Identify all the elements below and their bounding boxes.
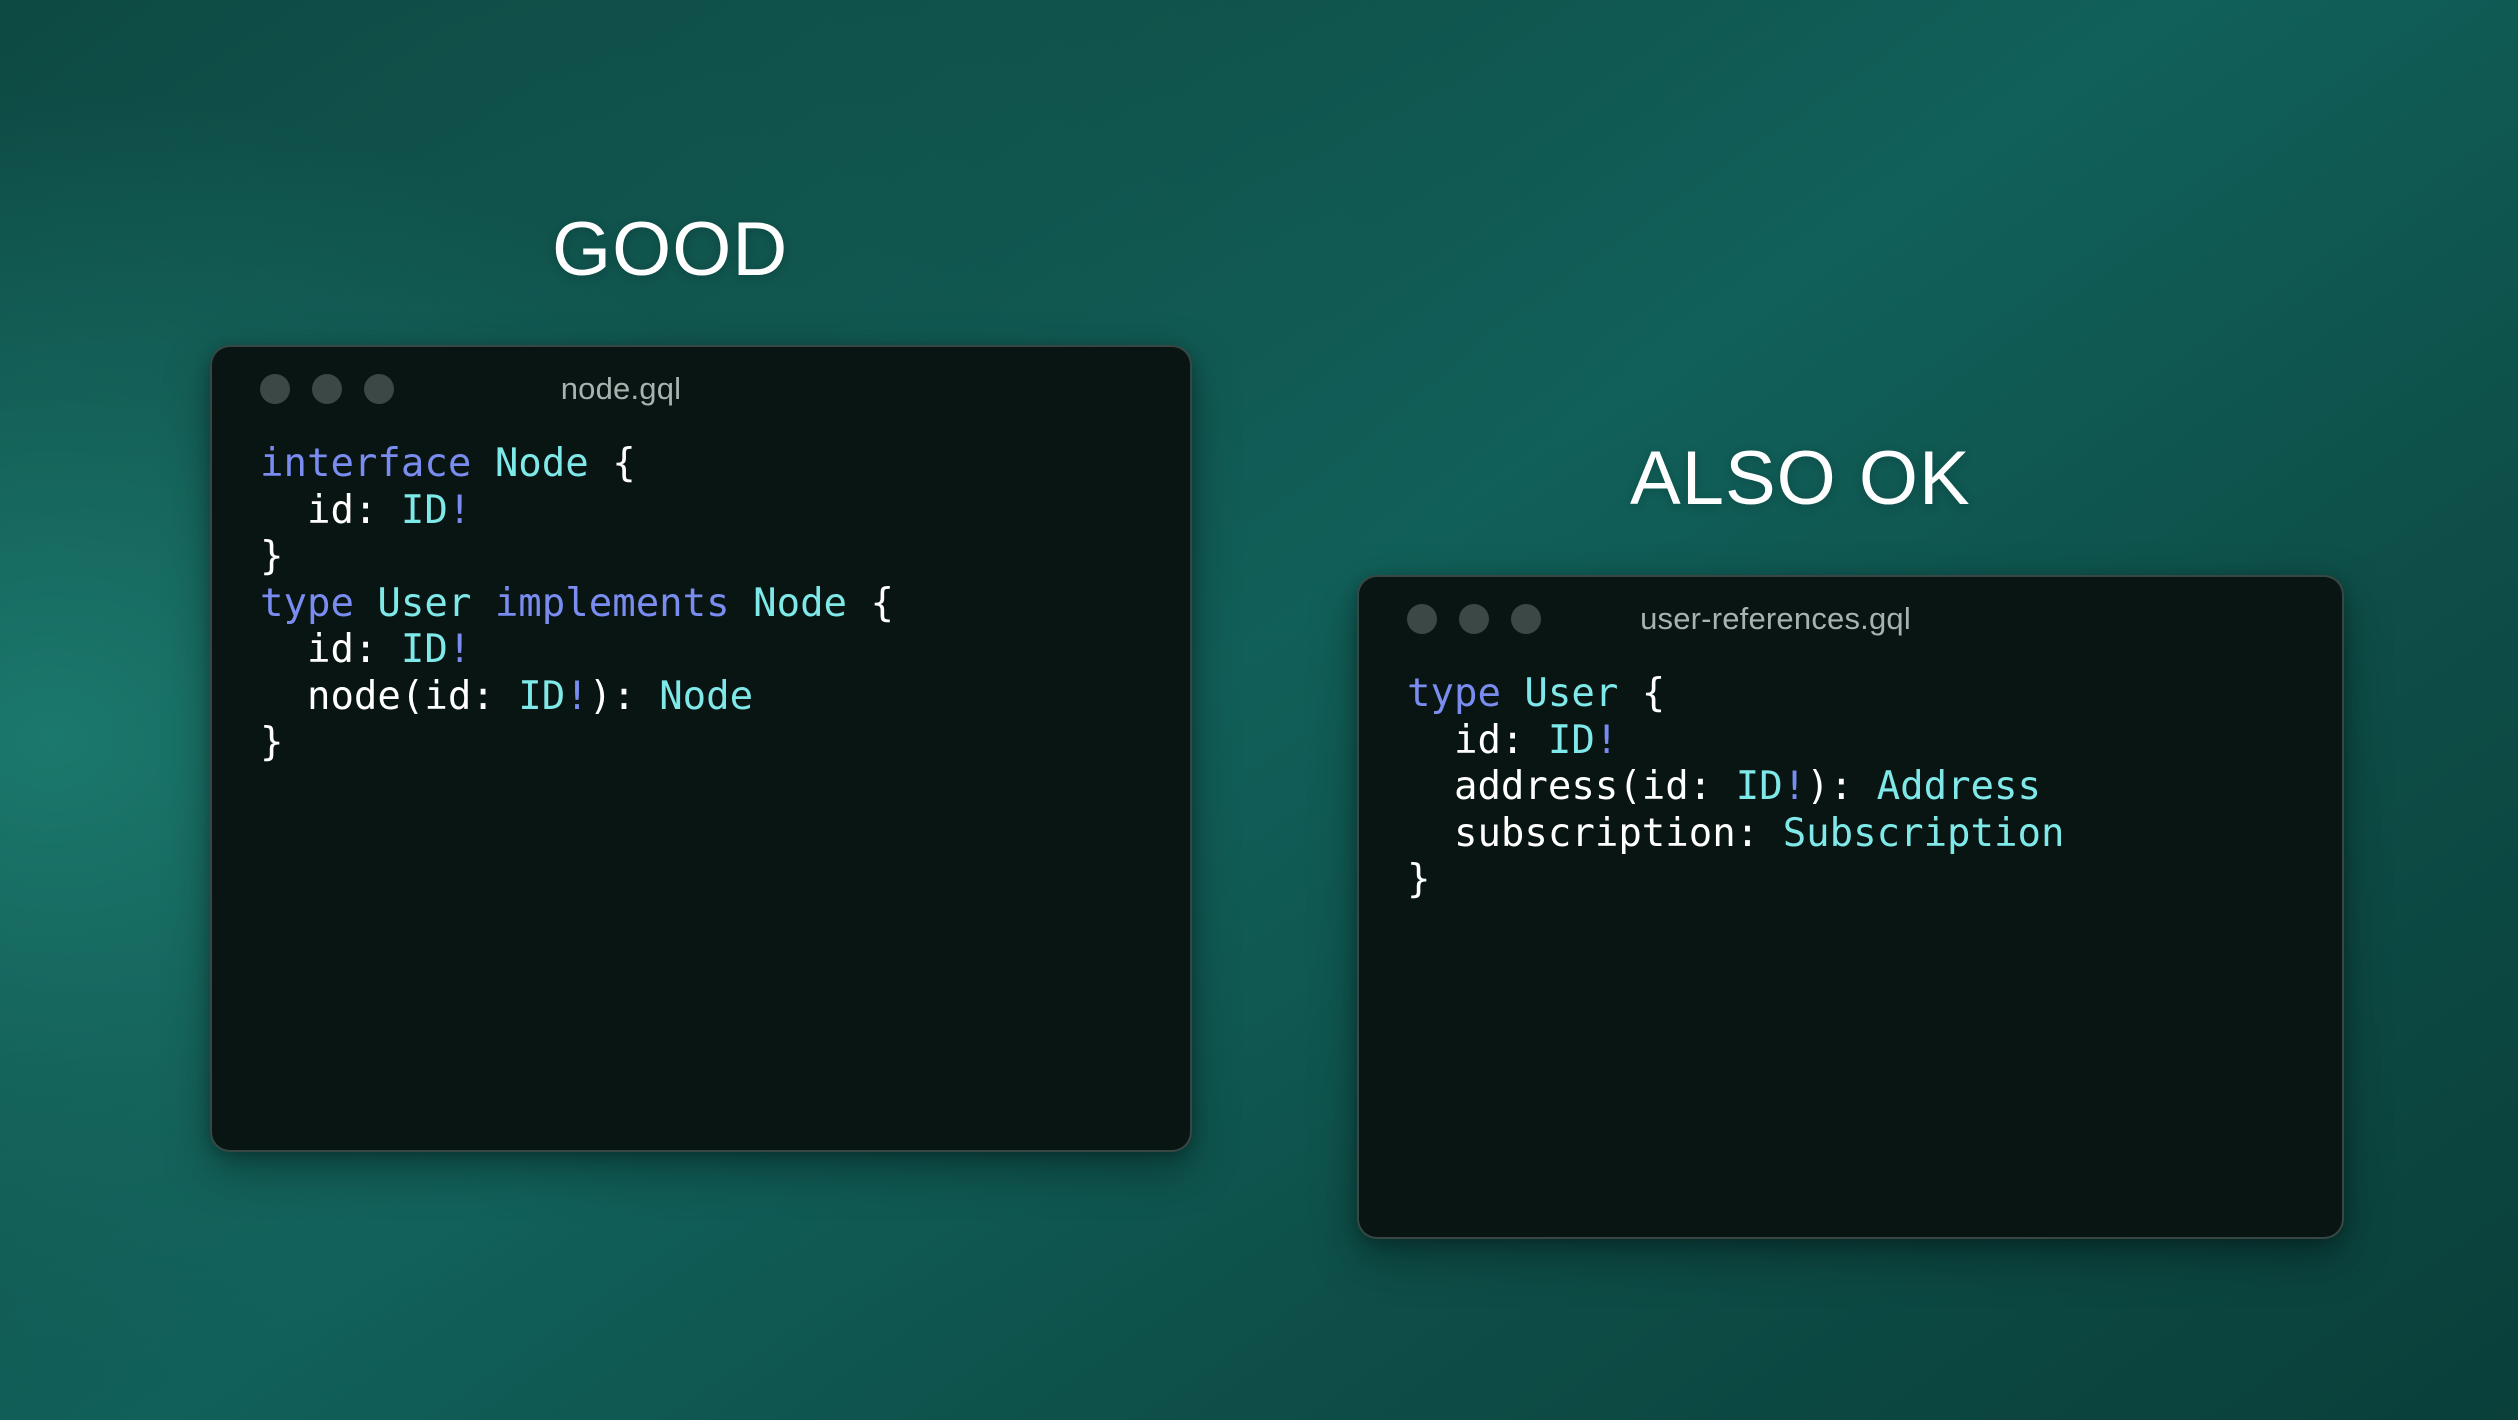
code-line: } [260, 534, 1190, 581]
code-line: interface Node { [260, 441, 1190, 488]
code-token: ! [565, 674, 588, 719]
code-block: type User { id: ID! address(id: ID!): Ad… [1359, 661, 2342, 904]
code-token: { [847, 581, 894, 626]
code-line: address(id: ID!): Address [1407, 764, 2342, 811]
code-token: Node [495, 441, 589, 486]
code-token [471, 581, 494, 626]
code-token: ID [401, 627, 448, 672]
code-token: node(id: [260, 674, 518, 719]
code-token: User [1524, 671, 1618, 716]
code-token: address(id: [1407, 764, 1736, 809]
code-line: id: ID! [1407, 718, 2342, 765]
code-token: } [260, 720, 283, 765]
code-token: ID [518, 674, 565, 719]
comparison-figure: GOOD ALSO OK node.gql interface Node { i… [0, 0, 2518, 1420]
code-line: id: ID! [260, 627, 1190, 674]
code-token [730, 581, 753, 626]
code-token: { [589, 441, 636, 486]
code-line: id: ID! [260, 488, 1190, 535]
code-token [471, 441, 494, 486]
code-token: Address [1877, 764, 2041, 809]
window-titlebar: user-references.gql [1359, 577, 2342, 661]
code-line: type User { [1407, 671, 2342, 718]
code-window-node: node.gql interface Node { id: ID!}type U… [210, 345, 1192, 1152]
code-token: subscription: [1407, 811, 1783, 856]
code-token: ! [1595, 718, 1618, 763]
code-token: } [1407, 857, 1430, 902]
code-token: ): [1806, 764, 1876, 809]
code-line: } [260, 720, 1190, 767]
code-token: Node [659, 674, 753, 719]
code-token: } [260, 534, 283, 579]
code-line: subscription: Subscription [1407, 811, 2342, 858]
code-token: ID [1736, 764, 1783, 809]
window-filename: node.gql [212, 371, 1190, 407]
code-block: interface Node { id: ID!}type User imple… [212, 431, 1190, 767]
code-token: id: [260, 627, 401, 672]
window-filename: user-references.gql [1359, 601, 2342, 637]
code-token: User [377, 581, 471, 626]
code-token: ID [401, 488, 448, 533]
code-token: id: [260, 488, 401, 533]
heading-good: GOOD [552, 212, 788, 288]
code-token: Subscription [1783, 811, 2065, 856]
code-line: type User implements Node { [260, 581, 1190, 628]
code-line: } [1407, 857, 2342, 904]
code-token: ! [448, 488, 471, 533]
code-token: interface [260, 441, 471, 486]
code-token: ): [589, 674, 659, 719]
code-token: ! [448, 627, 471, 672]
code-token [1501, 671, 1524, 716]
heading-also-ok: ALSO OK [1630, 441, 1971, 517]
code-token: Node [753, 581, 847, 626]
code-token: ID [1548, 718, 1595, 763]
code-token: ! [1783, 764, 1806, 809]
code-token: { [1618, 671, 1665, 716]
code-token: type [1407, 671, 1501, 716]
code-token: type [260, 581, 354, 626]
window-titlebar: node.gql [212, 347, 1190, 431]
code-line: node(id: ID!): Node [260, 674, 1190, 721]
code-window-user-references: user-references.gql type User { id: ID! … [1357, 575, 2344, 1239]
code-token: implements [495, 581, 730, 626]
code-token [354, 581, 377, 626]
code-token: id: [1407, 718, 1548, 763]
